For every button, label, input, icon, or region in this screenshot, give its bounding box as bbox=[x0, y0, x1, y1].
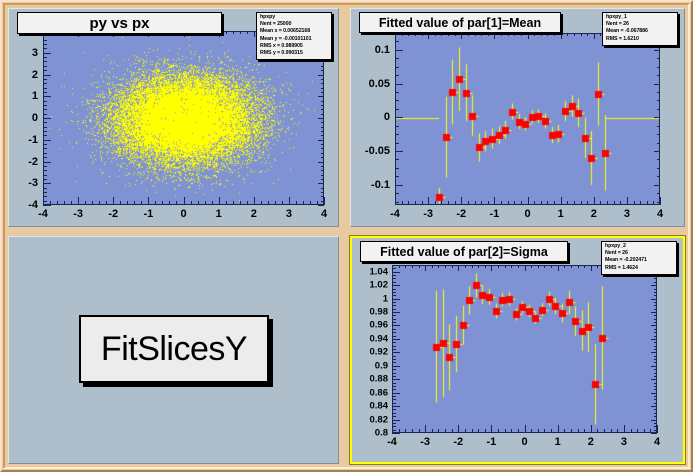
x-tick-label: 4 bbox=[657, 208, 663, 220]
x-tick-label: 3 bbox=[624, 208, 630, 220]
stats-line-name: hpxpy_1 bbox=[606, 14, 675, 21]
x-tick-label: -4 bbox=[38, 208, 48, 220]
y-tick-label: 1.02 bbox=[352, 280, 388, 291]
y-tick-label: -3 bbox=[15, 177, 38, 189]
y-tick-label: 3 bbox=[15, 47, 38, 59]
x-tick-label: -3 bbox=[420, 436, 430, 448]
stats-line-nent: Nent = 26 bbox=[605, 250, 674, 257]
y-tick-label: 0.05 bbox=[353, 78, 390, 90]
stats-line-nent: Nent = 26 bbox=[606, 21, 675, 28]
y-tick-label: 0.86 bbox=[352, 387, 388, 398]
x-tick-label: -2 bbox=[108, 208, 118, 220]
stats-line-mean: Mean = -0.202471 bbox=[605, 257, 674, 264]
y-tick-label: 0 bbox=[353, 111, 390, 123]
y-tick-label: 0.1 bbox=[353, 44, 390, 56]
y-tick-label: 0.94 bbox=[352, 333, 388, 344]
y-tick-label: 0.92 bbox=[352, 347, 388, 358]
y-tick-label: 0.84 bbox=[352, 401, 388, 412]
x-tick-label: -1 bbox=[143, 208, 153, 220]
stats-line-nent: Nent = 25000 bbox=[260, 21, 329, 28]
pad-fitslicesy[interactable]: FitSlicesY bbox=[8, 236, 339, 464]
fitslicesy-label-text: FitSlicesY bbox=[101, 330, 247, 369]
x-tick-label: -2 bbox=[453, 436, 463, 448]
y-tick-label: -2 bbox=[15, 156, 38, 168]
x-tick-label: 0 bbox=[180, 208, 186, 220]
stats-box-hpxpy-1[interactable]: hpxpy_1 Nent = 26 Mean = -0.067886 RMS =… bbox=[602, 12, 678, 46]
fitslicesy-label-box[interactable]: FitSlicesY bbox=[79, 315, 269, 383]
y-tick-label: 0.8 bbox=[352, 428, 388, 439]
x-tick-label: 0 bbox=[521, 436, 527, 448]
x-tick-label: 3 bbox=[286, 208, 292, 220]
x-tick-label: 1 bbox=[555, 436, 561, 448]
y-tick-label: 0.82 bbox=[352, 414, 388, 425]
x-tick-label: 1 bbox=[216, 208, 222, 220]
title-text: py vs px bbox=[89, 15, 149, 32]
x-tick-label: 2 bbox=[591, 208, 597, 220]
y-tick-label: 0.98 bbox=[352, 307, 388, 318]
title-text: Fitted value of par[1]=Mean bbox=[379, 16, 541, 30]
stats-line-mean-x: Mean x = 0.00652168 bbox=[260, 28, 329, 35]
x-tick-label: 4 bbox=[654, 436, 660, 448]
y-tick-label: 1 bbox=[352, 293, 388, 304]
pad-py-vs-px[interactable]: py vs px hpxpy Nent = 25000 Mean x = 0.0… bbox=[8, 8, 339, 227]
x-tick-label: -1 bbox=[489, 208, 499, 220]
stats-line-rms-x: RMS x = 0.989905 bbox=[260, 43, 329, 50]
stats-line-rms-y: RMS y = 0.990315 bbox=[260, 50, 329, 57]
stats-line-name: hpxpy bbox=[260, 14, 329, 21]
x-tick-label: 2 bbox=[251, 208, 257, 220]
stats-line-mean-y: Mean y = -0.00101101 bbox=[260, 36, 329, 43]
pad-fitted-mean[interactable]: Fitted value of par[1]=Mean hpxpy_1 Nent… bbox=[350, 8, 685, 227]
title-box-fitted-mean[interactable]: Fitted value of par[1]=Mean bbox=[359, 12, 561, 33]
stats-box-hpxpy[interactable]: hpxpy Nent = 25000 Mean x = 0.00652168 M… bbox=[256, 12, 332, 60]
y-tick-label: 0.9 bbox=[352, 360, 388, 371]
stats-line-mean: Mean = -0.067886 bbox=[606, 28, 675, 35]
x-tick-label: 0 bbox=[524, 208, 530, 220]
x-tick-label: -3 bbox=[73, 208, 83, 220]
x-tick-label: 3 bbox=[621, 436, 627, 448]
x-tick-label: 2 bbox=[588, 436, 594, 448]
y-tick-label: -0.05 bbox=[353, 145, 390, 157]
stats-box-hpxpy-2[interactable]: hpxpy_2 Nent = 26 Mean = -0.202471 RMS =… bbox=[601, 241, 677, 275]
x-tick-label: 1 bbox=[558, 208, 564, 220]
y-tick-label: -0.1 bbox=[353, 179, 390, 191]
stats-line-name: hpxpy_2 bbox=[605, 243, 674, 250]
y-tick-label: -4 bbox=[15, 199, 38, 211]
stats-line-rms: RMS = 1.4624 bbox=[605, 265, 674, 272]
pad-fitted-sigma[interactable]: Fitted value of par[2]=Sigma hpxpy_2 Nen… bbox=[350, 236, 685, 464]
x-tick-label: -4 bbox=[387, 436, 397, 448]
title-box-fitted-sigma[interactable]: Fitted value of par[2]=Sigma bbox=[360, 241, 568, 262]
stats-line-rms: RMS = 1.6210 bbox=[606, 36, 675, 43]
x-tick-label: -2 bbox=[456, 208, 466, 220]
y-tick-label: 2 bbox=[15, 69, 38, 81]
y-tick-label: 0.88 bbox=[352, 374, 388, 385]
y-tick-label: 0 bbox=[15, 112, 38, 124]
x-tick-label: -1 bbox=[486, 436, 496, 448]
y-tick-label: 1 bbox=[15, 90, 38, 102]
title-box-py-vs-px[interactable]: py vs px bbox=[17, 12, 222, 34]
root-canvas[interactable]: py vs px hpxpy Nent = 25000 Mean x = 0.0… bbox=[0, 0, 693, 472]
title-text: Fitted value of par[2]=Sigma bbox=[380, 245, 548, 259]
x-tick-label: 4 bbox=[321, 208, 327, 220]
y-tick-label: -1 bbox=[15, 134, 38, 146]
x-tick-label: -3 bbox=[423, 208, 433, 220]
y-tick-label: 0.96 bbox=[352, 320, 388, 331]
y-tick-label: 1.04 bbox=[352, 266, 388, 277]
x-tick-label: -4 bbox=[390, 208, 400, 220]
